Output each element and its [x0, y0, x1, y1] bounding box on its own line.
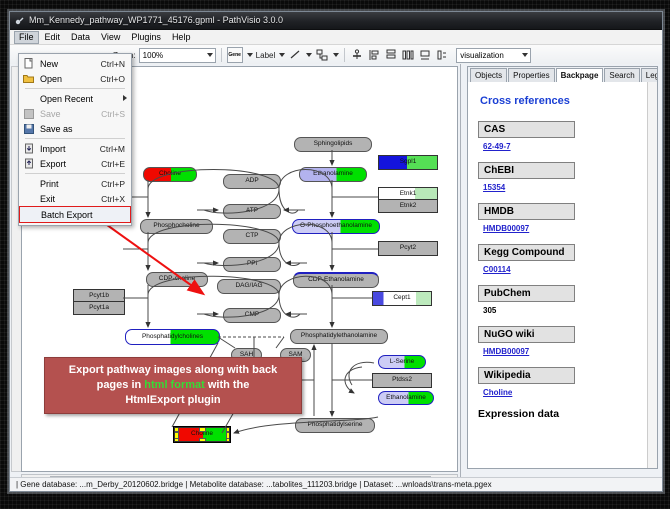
- visualization-select[interactable]: visualization: [456, 48, 531, 63]
- pathvisio-icon: [15, 16, 25, 26]
- node-label: Etnk2: [400, 203, 417, 210]
- selection-handle[interactable]: [174, 432, 179, 439]
- import-icon: [21, 142, 36, 155]
- status-text: | Gene database: ...m_Derby_20120602.bri…: [16, 480, 492, 489]
- menu-item-accelerator: Ctrl+N: [101, 59, 129, 69]
- pathway-node-metabolite[interactable]: CDP-choline: [146, 272, 208, 287]
- gene-tool-button[interactable]: Gene: [227, 47, 243, 63]
- no-icon: [21, 192, 36, 205]
- side-panel-scrollbar[interactable]: [647, 82, 657, 468]
- annotation-line2-pre: pages in: [97, 379, 145, 391]
- pathway-node-metabolite[interactable]: Phosphocholine: [140, 219, 213, 234]
- menu-item-label: Open: [36, 74, 100, 84]
- xref-database-label: Kegg Compound: [478, 244, 575, 261]
- xref-link[interactable]: HMDB00097: [483, 224, 529, 233]
- menu-data[interactable]: Data: [66, 31, 95, 44]
- pathway-node-gene[interactable]: Pcyt2: [378, 241, 438, 256]
- pathway-node-metabolite[interactable]: ADP: [223, 174, 281, 189]
- label-tool-label[interactable]: Label: [256, 51, 276, 60]
- visualization-value: visualization: [460, 51, 504, 60]
- node-label: Pcyt1b: [89, 293, 109, 300]
- menu-item-save-as[interactable]: Save as: [19, 121, 131, 136]
- toolbar-divider-2: [344, 48, 345, 62]
- menu-separator: [25, 173, 125, 174]
- export-icon: [21, 157, 36, 170]
- node-label: Ethanolamine: [386, 395, 426, 402]
- save-icon: [21, 107, 36, 120]
- node-label: CDP-choline: [159, 276, 196, 283]
- node-label: Pcyt2: [400, 245, 416, 252]
- node-label: Choline: [191, 431, 213, 438]
- menu-item-label: Batch Export: [37, 210, 124, 220]
- menu-edit[interactable]: Edit: [40, 31, 66, 44]
- pathway-node-metabolite[interactable]: Phosphatidylserine: [295, 418, 375, 433]
- menu-separator: [25, 88, 125, 89]
- tab-objects[interactable]: Objects: [470, 68, 507, 82]
- no-icon: [21, 177, 36, 190]
- node-label: CDP-Ethanolamine: [308, 277, 364, 284]
- xref-value[interactable]: HMDB00097: [483, 224, 647, 233]
- cross-references-title: Cross references: [480, 95, 647, 107]
- align-left-icon[interactable]: [367, 48, 381, 62]
- menu-item-accelerator: Ctrl+M: [100, 144, 129, 154]
- pathway-node-metabolite[interactable]: O-Phosphoethanolamine: [292, 219, 380, 234]
- selection-handle[interactable]: [199, 427, 206, 432]
- zoom-value: 100%: [143, 51, 163, 60]
- pathway-node-metabolite[interactable]: Sphingolipids: [294, 137, 372, 152]
- pathway-node-gene[interactable]: Etnk2: [378, 199, 438, 213]
- xref-database-label: ChEBI: [478, 162, 575, 179]
- node-label: PPi: [247, 261, 257, 268]
- new-file-icon: [21, 57, 36, 70]
- group-icon[interactable]: [418, 48, 432, 62]
- menu-item-exit[interactable]: ExitCtrl+X: [19, 191, 131, 206]
- xref-link[interactable]: C00114: [483, 265, 511, 274]
- xref-value[interactable]: HMDB00097: [483, 347, 647, 356]
- pathway-node-gene[interactable]: Cept1: [372, 291, 432, 306]
- annotation-line2-highlight: html format: [144, 379, 205, 391]
- menu-item-accelerator: Ctrl+X: [101, 194, 129, 204]
- xref-value: 305: [483, 306, 647, 315]
- node-label: DAG/IAG: [235, 283, 262, 290]
- node-label: Choline: [159, 171, 181, 178]
- node-label: Pcyt1a: [89, 305, 109, 312]
- node-label: L-Serine: [390, 359, 415, 366]
- label-tool-chevron-down-icon[interactable]: [279, 53, 285, 57]
- annotation-text: Export pathway images along with back pa…: [63, 363, 283, 408]
- xref-value[interactable]: Choline: [483, 388, 647, 397]
- submenu-arrow-icon: [123, 95, 127, 101]
- interaction-tool-icon[interactable]: [315, 48, 329, 62]
- menu-item-accelerator: Ctrl+S: [101, 109, 129, 119]
- xref-database-label: HMDB: [478, 203, 575, 220]
- selection-handle[interactable]: [226, 438, 230, 442]
- menu-item-label: Exit: [36, 194, 101, 204]
- xref-value[interactable]: C00114: [483, 265, 647, 274]
- pathvisio-main-window: Mm_Kennedy_pathway_WP1771_45176.gpml - P…: [9, 11, 663, 492]
- xref-link[interactable]: HMDB00097: [483, 347, 529, 356]
- annotation-line2-post: with the: [205, 379, 250, 391]
- xref-database-label: NuGO wiki: [478, 326, 575, 343]
- menu-item-accelerator: Ctrl+O: [100, 74, 129, 84]
- pathway-node-gene[interactable]: Sgpl1: [378, 155, 438, 170]
- menu-item-print[interactable]: PrintCtrl+P: [19, 176, 131, 191]
- menu-item-open-recent[interactable]: Open Recent: [19, 91, 131, 106]
- xref-link[interactable]: 15354: [483, 183, 505, 192]
- side-panel-inner: ObjectsPropertiesBackpageSearchLegend Cr…: [467, 66, 658, 469]
- title-bar: Mm_Kennedy_pathway_WP1771_45176.gpml - P…: [10, 12, 662, 30]
- selection-handle[interactable]: [174, 438, 179, 442]
- node-label: ATP: [246, 208, 258, 215]
- node-label: Cept1: [393, 295, 410, 302]
- menu-item-export[interactable]: ExportCtrl+E: [19, 156, 131, 171]
- tab-properties[interactable]: Properties: [508, 68, 554, 82]
- menu-item-label: Import: [36, 144, 100, 154]
- node-label: Sgpl1: [400, 159, 417, 166]
- menu-bar: File Edit Data View Plugins Help: [10, 30, 662, 45]
- xref-database-label: PubChem: [478, 285, 575, 302]
- toolbar-divider: [221, 48, 222, 62]
- annotation-line1: Export pathway images along with back: [69, 364, 277, 376]
- backpage-content: Cross references CAS62-49-7ChEBI15354HMD…: [468, 82, 657, 468]
- node-label: Phosphocholine: [153, 223, 199, 230]
- pathway-node-metabolite[interactable]: Choline: [143, 167, 197, 182]
- pathway-node-metabolite[interactable]: PPi: [223, 257, 281, 272]
- menu-item-label: Save: [36, 109, 101, 119]
- menu-item-label: Save as: [36, 124, 125, 134]
- node-label: Sphingolipids: [314, 141, 353, 148]
- cross-references-list: CAS62-49-7ChEBI15354HMDBHMDB00097Kegg Co…: [478, 121, 647, 397]
- node-label: O-Phosphoethanolamine: [300, 223, 372, 230]
- open-folder-icon: [21, 72, 36, 85]
- pathway-node-metabolite[interactable]: Choline: [174, 427, 230, 442]
- pathway-node-gene[interactable]: Pcyt1a: [73, 301, 125, 315]
- menu-item-save: SaveCtrl+S: [19, 106, 131, 121]
- menu-item-label: Print: [36, 179, 101, 189]
- node-label: CMP: [245, 312, 259, 319]
- chevron-down-icon: [207, 53, 213, 57]
- menu-item-open[interactable]: OpenCtrl+O: [19, 71, 131, 86]
- menu-item-accelerator: Ctrl+E: [101, 159, 129, 169]
- pathway-node-metabolite[interactable]: Ethanolamine: [299, 167, 367, 182]
- menu-item-import[interactable]: ImportCtrl+M: [19, 141, 131, 156]
- menu-item-batch-export[interactable]: Batch Export: [19, 206, 131, 223]
- menu-item-label: Open Recent: [36, 94, 125, 104]
- interaction-tool-chevron-down-icon[interactable]: [333, 53, 339, 57]
- window-title: Mm_Kennedy_pathway_WP1771_45176.gpml - P…: [29, 15, 283, 25]
- annotation-line3: HtmlExport plugin: [125, 394, 220, 406]
- xref-link[interactable]: Choline: [483, 388, 512, 397]
- pathway-node-metabolite[interactable]: Ethanolamine: [378, 391, 434, 405]
- pathway-node-metabolite[interactable]: CDP-Ethanolamine: [293, 272, 379, 288]
- align-columns-icon[interactable]: [401, 48, 415, 62]
- no-icon: [21, 92, 36, 105]
- expression-data-title: Expression data: [478, 408, 647, 420]
- node-label: Ptdss2: [392, 377, 412, 384]
- pathway-node-metabolite[interactable]: DAG/IAG: [217, 279, 281, 294]
- menu-item-new[interactable]: NewCtrl+N: [19, 56, 131, 71]
- menu-file[interactable]: File: [14, 31, 39, 44]
- node-label: Phosphatidylcholines: [142, 334, 203, 341]
- line-tool-chevron-down-icon[interactable]: [306, 53, 312, 57]
- align-stack-icon[interactable]: [384, 48, 398, 62]
- node-label: Phosphatidylserine: [308, 422, 363, 429]
- menu-plugins[interactable]: Plugins: [126, 31, 166, 44]
- node-label: CTP: [246, 233, 259, 240]
- menu-separator: [25, 138, 125, 139]
- tab-search[interactable]: Search: [604, 68, 639, 82]
- menu-view[interactable]: View: [96, 31, 125, 44]
- xref-link[interactable]: 62-49-7: [483, 142, 511, 151]
- xref-value[interactable]: 62-49-7: [483, 142, 647, 151]
- xref-database-label: Wikipedia: [478, 367, 575, 384]
- gene-tool-chevron-down-icon[interactable]: [247, 53, 253, 57]
- line-tool-icon[interactable]: [288, 48, 302, 62]
- node-label: Phosphatidylethanolamine: [301, 333, 377, 340]
- side-panel-tabs: ObjectsPropertiesBackpageSearchLegend: [468, 67, 657, 83]
- zoom-select[interactable]: 100%: [139, 48, 216, 63]
- tab-legend[interactable]: Legend: [641, 68, 658, 82]
- pathway-node-metabolite[interactable]: Phosphatidylcholines: [125, 329, 220, 345]
- file-dropdown-menu: NewCtrl+NOpenCtrl+OOpen RecentSaveCtrl+S…: [18, 53, 132, 226]
- menu-item-label: Export: [36, 159, 101, 169]
- no-icon: [22, 208, 37, 221]
- xref-database-label: CAS: [478, 121, 575, 138]
- pathway-node-metabolite[interactable]: ATP: [223, 204, 281, 219]
- pathway-node-metabolite[interactable]: L-Serine: [378, 355, 426, 369]
- tab-backpage[interactable]: Backpage: [556, 68, 604, 83]
- menu-help[interactable]: Help: [167, 31, 196, 44]
- selection-handle[interactable]: [199, 438, 206, 442]
- menu-item-accelerator: Ctrl+P: [101, 179, 129, 189]
- node-label: Etnk1: [400, 191, 417, 198]
- xref-value[interactable]: 15354: [483, 183, 647, 192]
- visualization-chevron-down-icon: [522, 53, 528, 57]
- anchor-tool-icon[interactable]: [350, 48, 364, 62]
- pathway-node-metabolite[interactable]: Phosphatidylethanolamine: [290, 329, 388, 344]
- order-icon[interactable]: [435, 48, 449, 62]
- menu-item-label: New: [36, 59, 101, 69]
- node-label: Ethanolamine: [313, 171, 353, 178]
- status-bar: | Gene database: ...m_Derby_20120602.bri…: [10, 477, 663, 491]
- save-as-icon: [21, 122, 36, 135]
- pathway-node-metabolite[interactable]: CMP: [223, 308, 281, 323]
- pathway-node-gene[interactable]: Ptdss2: [372, 373, 432, 388]
- pathway-node-metabolite[interactable]: CTP: [223, 229, 281, 244]
- node-label: ADP: [245, 178, 258, 185]
- gene-tool-label: Gene: [228, 52, 241, 58]
- annotation-callout: Export pathway images along with back pa…: [44, 357, 302, 414]
- side-panel: ObjectsPropertiesBackpageSearchLegend Cr…: [461, 64, 662, 491]
